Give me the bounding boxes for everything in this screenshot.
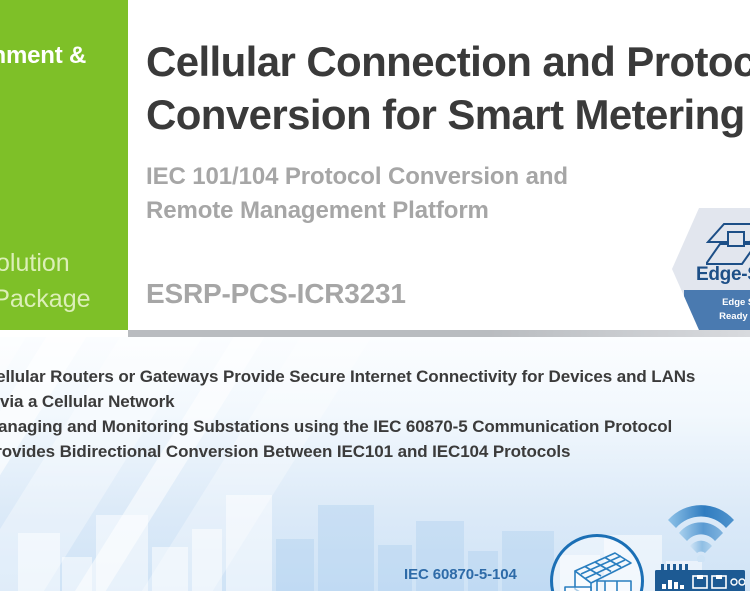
category-label-line2: Energy bbox=[0, 72, 128, 104]
product-banner: Environment & Energy Edge Solution Ready… bbox=[0, 0, 750, 591]
category-panel: Environment & Energy Edge Solution Ready… bbox=[0, 0, 128, 330]
feature-list: Cellular Routers or Gateways Provide Sec… bbox=[0, 365, 750, 465]
feature-item: Provides Bidirectional Conversion Betwee… bbox=[0, 440, 750, 465]
wifi-signal-icon bbox=[664, 504, 738, 562]
model-number: ESRP-PCS-ICR3231 bbox=[146, 278, 406, 310]
banner-bottom: Cellular Routers or Gateways Provide Sec… bbox=[0, 337, 750, 591]
page-subtitle-line1: IEC 101/104 Protocol Conversion and bbox=[146, 160, 706, 194]
page-subtitle: IEC 101/104 Protocol Conversion and Remo… bbox=[146, 160, 706, 228]
skyline-building bbox=[152, 547, 188, 591]
divider-spacer bbox=[0, 330, 128, 337]
cellular-router-device-icon bbox=[655, 564, 745, 591]
skyline-building bbox=[62, 557, 92, 591]
feature-item: Managing and Monitoring Substations usin… bbox=[0, 415, 750, 440]
skyline-building bbox=[276, 539, 314, 591]
skyline-building bbox=[226, 495, 272, 591]
protocol-label: IEC 60870-5-104 bbox=[404, 566, 517, 583]
feature-item: Cellular Routers or Gateways Provide Sec… bbox=[0, 365, 730, 415]
edge-srp-badge-name: Edge-SRP bbox=[696, 264, 750, 286]
skyline-building bbox=[192, 529, 222, 591]
skyline-building bbox=[318, 505, 374, 591]
category-label-line1: Environment & bbox=[0, 42, 86, 69]
edge-srp-ribbon-line1: Edge Solution bbox=[684, 296, 750, 310]
category-label: Environment & Energy bbox=[0, 40, 128, 103]
page-title: Cellular Connection and Protocol Convers… bbox=[146, 36, 750, 142]
page-subtitle-line2: Remote Management Platform bbox=[146, 194, 706, 228]
stacked-parallelogram-icon bbox=[706, 222, 750, 266]
srp-panel-label: Edge Solution Ready Package bbox=[0, 246, 128, 317]
banner-header: Environment & Energy Edge Solution Ready… bbox=[0, 0, 750, 330]
page-title-line2: Conversion for Smart Metering bbox=[146, 89, 750, 142]
header-content: Cellular Connection and Protocol Convers… bbox=[146, 0, 750, 330]
srp-panel-label-line2: Ready Package bbox=[0, 282, 128, 318]
skyline-building bbox=[18, 533, 60, 591]
page-title-line1: Cellular Connection and Protocol bbox=[146, 36, 750, 89]
header-divider bbox=[128, 330, 750, 337]
skyline-building bbox=[96, 515, 148, 591]
srp-panel-label-line1: Edge Solution bbox=[0, 249, 70, 277]
